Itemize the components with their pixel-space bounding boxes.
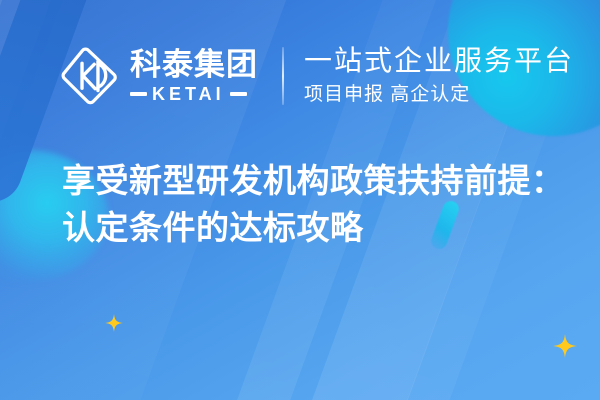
brand-name-en: KETAI — [152, 85, 225, 103]
brand-name-en-row: KETAI — [130, 85, 258, 103]
ketai-logo-icon — [60, 46, 120, 106]
header-divider — [282, 47, 284, 105]
page-title-line-2: 认定条件的达标攻略 — [62, 205, 562, 252]
brand-name-cn: 科泰集团 — [130, 49, 258, 82]
sparkle-star-icon — [105, 314, 123, 332]
dash-right-icon — [230, 92, 247, 96]
brand-block: 科泰集团 KETAI — [130, 49, 258, 103]
page-title-line-1: 享受新型研发机构政策扶持前提： — [62, 158, 562, 205]
dash-left-icon — [130, 92, 147, 96]
sparkle-star-icon — [553, 334, 577, 358]
tagline-main: 一站式企业服务平台 — [304, 45, 574, 77]
tagline-block: 一站式企业服务平台 项目申报 高企认定 — [304, 45, 574, 106]
banner-header: 科泰集团 KETAI 一站式企业服务平台 项目申报 高企认定 — [60, 38, 574, 114]
promo-banner: 科泰集团 KETAI 一站式企业服务平台 项目申报 高企认定 享受新型研发机构政… — [0, 0, 600, 400]
tagline-sub: 项目申报 高企认定 — [304, 83, 574, 107]
page-title: 享受新型研发机构政策扶持前提： 认定条件的达标攻略 — [62, 158, 562, 252]
